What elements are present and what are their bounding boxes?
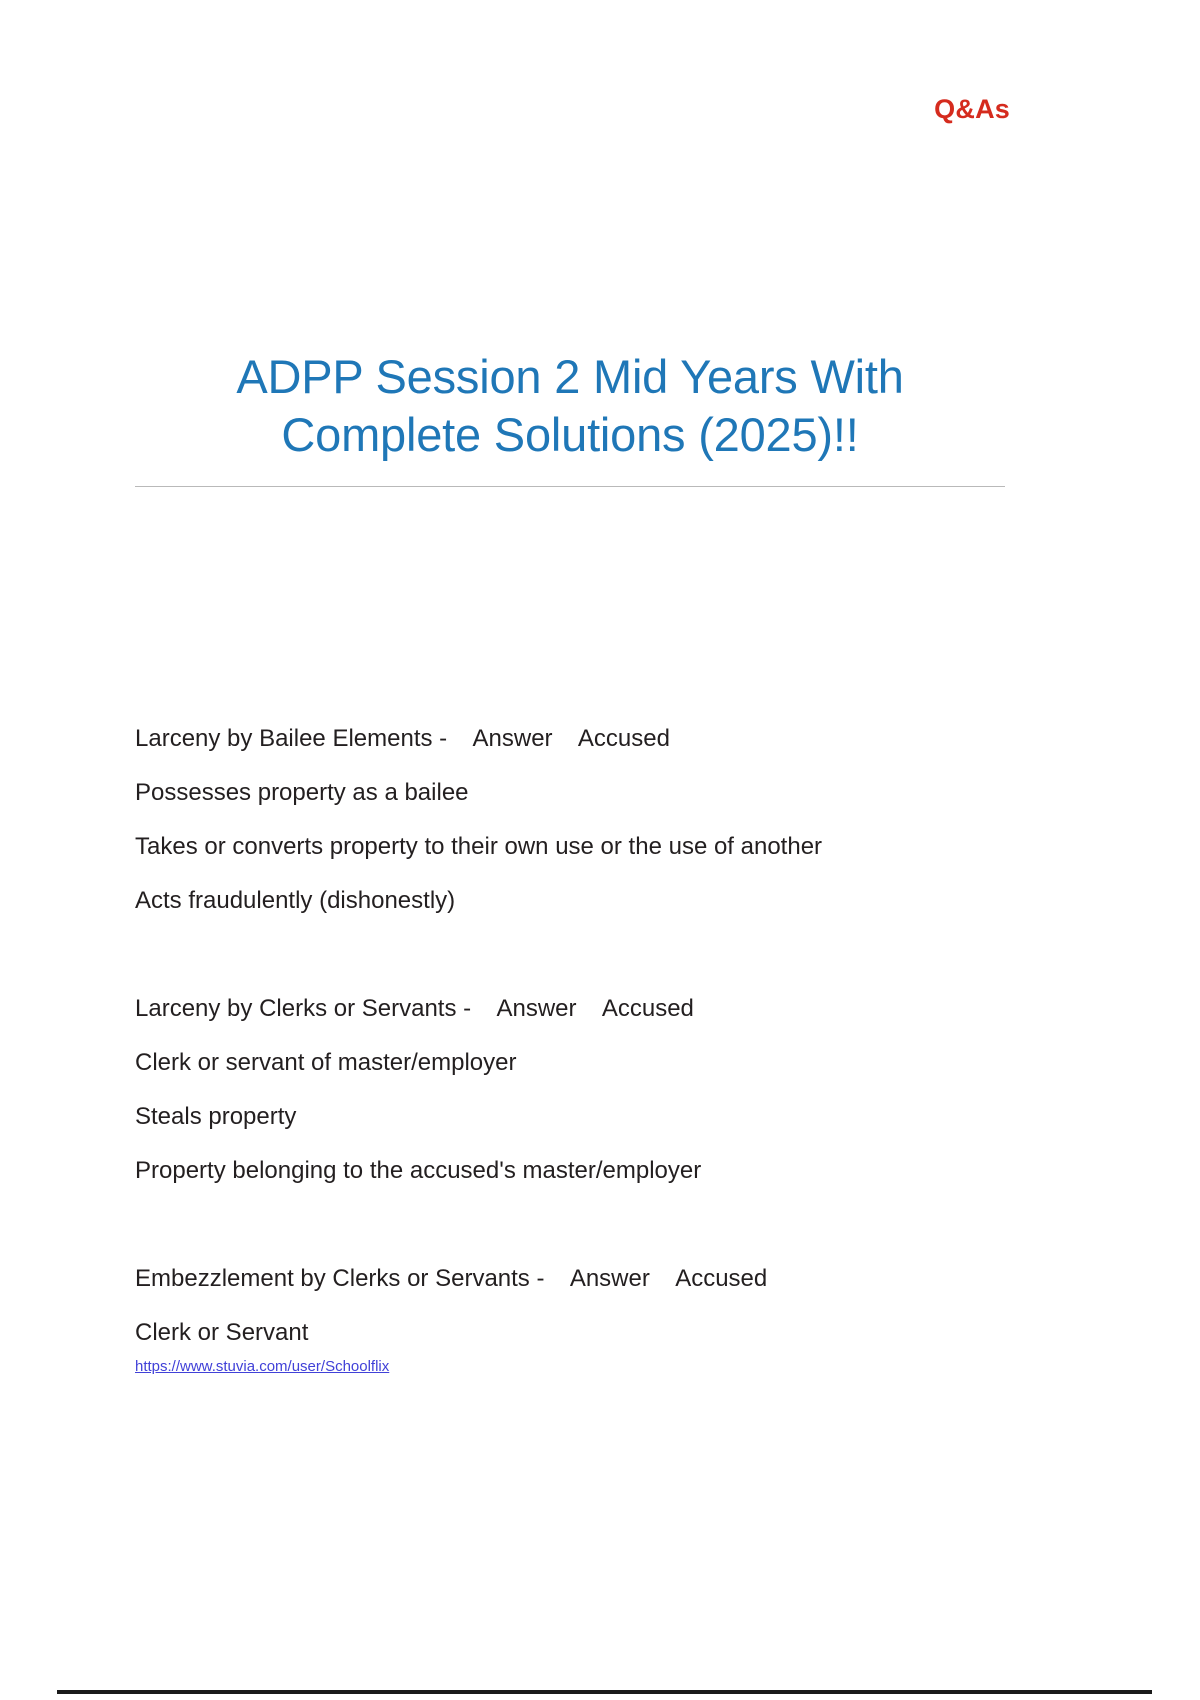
section-line: Takes or converts property to their own … (135, 820, 1035, 874)
page-bottom-divider (57, 1690, 1152, 1694)
qas-badge: Q&As (934, 94, 1010, 125)
document-page: Q&As ADPP Session 2 Mid Years With Compl… (0, 0, 1200, 1700)
document-body: Larceny by Bailee Elements - Answer Accu… (135, 712, 1035, 1360)
section-line: Clerk or Servant (135, 1306, 1035, 1360)
section-heading-larceny-clerks: Larceny by Clerks or Servants - Answer A… (135, 982, 1035, 1036)
section-line: Steals property (135, 1090, 1035, 1144)
section-spacer (135, 928, 1035, 982)
section-heading-embezzlement-clerks: Embezzlement by Clerks or Servants - Ans… (135, 1252, 1035, 1306)
section-spacer (135, 1198, 1035, 1252)
source-link[interactable]: https://www.stuvia.com/user/Schoolflix (135, 1358, 389, 1375)
section-line: Clerk or servant of master/employer (135, 1036, 1035, 1090)
title-divider (135, 486, 1005, 487)
section-line: Acts fraudulently (dishonestly) (135, 874, 1035, 928)
section-line: Possesses property as a bailee (135, 766, 1035, 820)
section-heading-larceny-bailee: Larceny by Bailee Elements - Answer Accu… (135, 712, 1035, 766)
title-block: ADPP Session 2 Mid Years With Complete S… (135, 348, 1005, 487)
section-line: Property belonging to the accused's mast… (135, 1144, 1035, 1198)
page-title: ADPP Session 2 Mid Years With Complete S… (135, 348, 1005, 486)
